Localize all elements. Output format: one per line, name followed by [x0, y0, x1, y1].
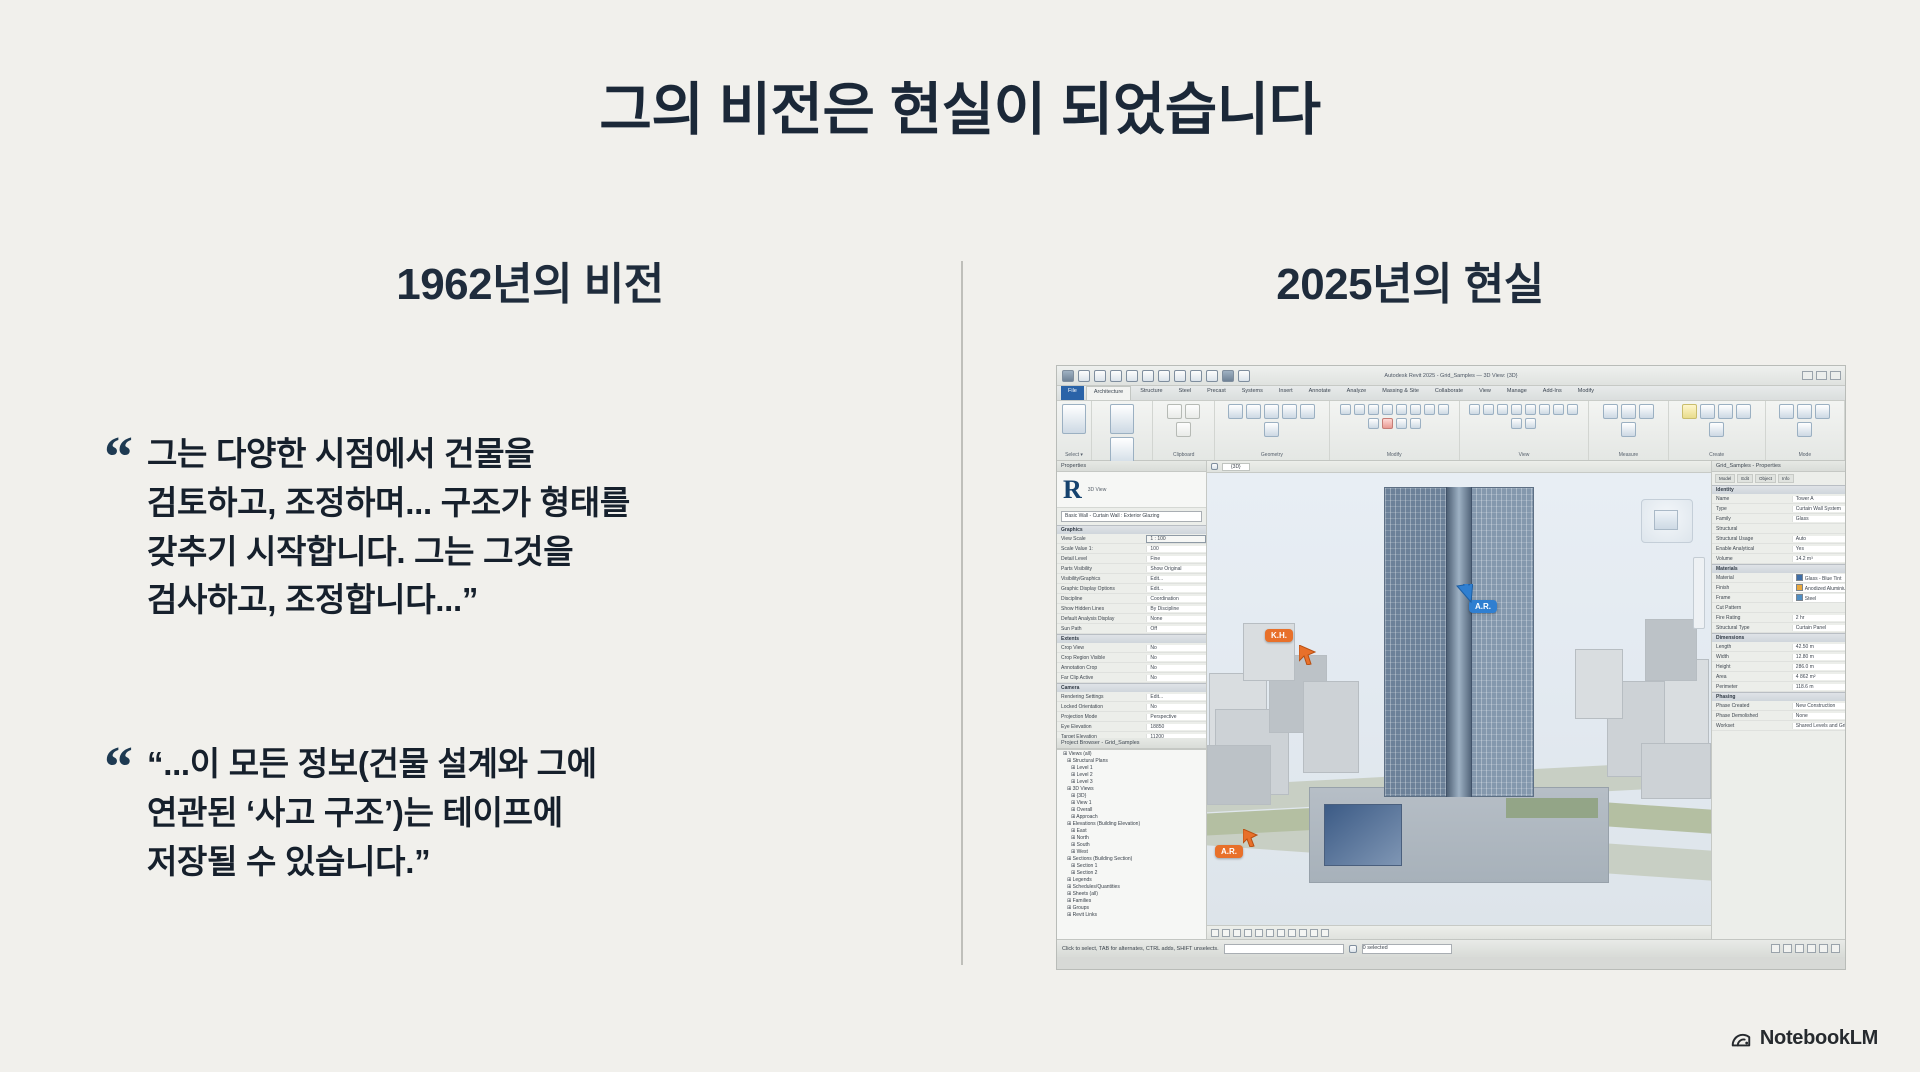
- ribbon-button-icon[interactable]: [1354, 404, 1365, 415]
- ribbon-button-icon[interactable]: [1110, 404, 1134, 434]
- property-value[interactable]: No: [1146, 704, 1206, 710]
- ribbon-tab[interactable]: Systems: [1235, 386, 1270, 400]
- property-value[interactable]: None: [1792, 713, 1845, 719]
- ribbon-group[interactable]: Clipboard: [1153, 401, 1214, 460]
- ribbon-group[interactable]: Select ▾: [1057, 401, 1092, 460]
- text-icon[interactable]: [1206, 370, 1218, 382]
- ribbon-button-icon[interactable]: [1062, 404, 1086, 434]
- visual-style-icon[interactable]: [1233, 929, 1241, 937]
- render-icon[interactable]: [1266, 929, 1274, 937]
- navigation-bar[interactable]: [1693, 557, 1705, 629]
- ribbon-button-icon[interactable]: [1709, 422, 1724, 437]
- property-row[interactable]: Graphic Display OptionsEdit...: [1057, 584, 1206, 594]
- tree-node[interactable]: ⊞ Groups: [1057, 904, 1206, 911]
- tree-node[interactable]: ⊞ Structural Plans: [1057, 757, 1206, 764]
- ribbon-group-label: Measure: [1619, 452, 1638, 460]
- property-row[interactable]: Default Analysis DisplayNone: [1057, 614, 1206, 624]
- tree-node[interactable]: ⊞ Level 2: [1057, 771, 1206, 778]
- ribbon-button-icon[interactable]: [1525, 418, 1536, 429]
- property-value[interactable]: Curtain Wall System: [1792, 506, 1845, 512]
- property-row[interactable]: Annotation CropNo: [1057, 663, 1206, 673]
- ribbon-button-icon[interactable]: [1539, 404, 1550, 415]
- collaborator-cursor-ar-blue: A.R.: [1469, 600, 1497, 613]
- tree-node[interactable]: ⊞ 3D Views: [1057, 785, 1206, 792]
- property-row[interactable]: Volume14.2 m³: [1712, 554, 1845, 564]
- tree-node[interactable]: ⊞ Revit Links: [1057, 911, 1206, 918]
- property-key: Visibility/Graphics: [1057, 576, 1146, 582]
- tree-node[interactable]: ⊞ Approach: [1057, 813, 1206, 820]
- property-key: Width: [1712, 654, 1792, 660]
- maximize-icon[interactable]: [1816, 371, 1827, 380]
- property-value[interactable]: New Construction: [1792, 703, 1845, 709]
- property-value[interactable]: Yes: [1792, 546, 1845, 552]
- property-key: Annotation Crop: [1057, 665, 1146, 671]
- property-row[interactable]: Phase DemolishedNone: [1712, 711, 1845, 721]
- collaborator-initials: A.R.: [1215, 845, 1243, 858]
- ribbon-tab[interactable]: Modify: [1571, 386, 1601, 400]
- property-key: Show Hidden Lines: [1057, 606, 1146, 612]
- ribbon-button-icon[interactable]: [1511, 418, 1522, 429]
- property-row[interactable]: Crop Region VisibleNo: [1057, 653, 1206, 663]
- page-title: 그의 비전은 현실이 되었습니다: [0, 78, 1920, 144]
- ribbon-button-icon[interactable]: [1603, 404, 1618, 419]
- detail-level-icon[interactable]: [1222, 929, 1230, 937]
- property-key: Family: [1712, 516, 1792, 522]
- ribbon-button-icon[interactable]: [1246, 404, 1261, 419]
- analytical-model-icon[interactable]: [1310, 929, 1318, 937]
- open-icon[interactable]: [1094, 370, 1106, 382]
- ribbon-button-icon[interactable]: [1396, 418, 1407, 429]
- city-block: [1207, 745, 1271, 805]
- ribbon-group[interactable]: Create: [1669, 401, 1766, 460]
- element-properties-tab[interactable]: Info: [1778, 474, 1794, 483]
- property-key: Area: [1712, 674, 1792, 680]
- measure-icon[interactable]: [1158, 370, 1170, 382]
- revit-logo-icon: R: [1063, 477, 1082, 503]
- property-row[interactable]: Fire Rating2 hr: [1712, 613, 1845, 623]
- property-value[interactable]: Curtain Panel: [1792, 625, 1845, 631]
- ribbon-group-label: View: [1519, 452, 1530, 460]
- view-cube-icon[interactable]: [1641, 499, 1693, 543]
- property-key: Eye Elevation: [1057, 724, 1146, 730]
- tree-node[interactable]: ⊞ Overall: [1057, 806, 1206, 813]
- property-row[interactable]: Parts VisibilityShow Original: [1057, 564, 1206, 574]
- notebooklm-wordmark: NotebookLM: [1760, 1027, 1878, 1050]
- project-browser-tree[interactable]: ⊞ Views (all)⊞ Structural Plans⊞ Level 1…: [1057, 749, 1206, 939]
- property-row[interactable]: FrameSteel: [1712, 593, 1845, 603]
- constraints-icon[interactable]: [1321, 929, 1329, 937]
- ribbon-button-icon[interactable]: [1382, 404, 1393, 415]
- status-toggles[interactable]: [1771, 944, 1840, 953]
- property-key: Finish: [1712, 585, 1792, 591]
- collaborator-initials: A.R.: [1469, 600, 1497, 613]
- property-row[interactable]: DisciplineCoordination: [1057, 594, 1206, 604]
- selection-count-field: 0 selected: [1362, 944, 1452, 954]
- property-value[interactable]: 286.0 m: [1792, 664, 1845, 670]
- ribbon-button-icon[interactable]: [1525, 404, 1536, 415]
- property-row[interactable]: Phase CreatedNew Construction: [1712, 701, 1845, 711]
- ribbon-button-icon[interactable]: [1282, 404, 1297, 419]
- ribbon-button-icon[interactable]: [1185, 404, 1200, 419]
- property-key: Parts Visibility: [1057, 566, 1146, 572]
- property-row[interactable]: TypeCurtain Wall System: [1712, 504, 1845, 514]
- ribbon-group-label: Create: [1709, 452, 1724, 460]
- ribbon-group[interactable]: Geometry: [1215, 401, 1330, 460]
- property-row[interactable]: Length42.50 m: [1712, 642, 1845, 652]
- tower-model: [1384, 487, 1534, 797]
- tree-node[interactable]: ⊞ {3D}: [1057, 792, 1206, 799]
- scale-icon[interactable]: [1211, 929, 1219, 937]
- property-section-header: Extents: [1057, 634, 1206, 643]
- select-links-icon[interactable]: [1819, 944, 1828, 953]
- ribbon-group[interactable]: Modify: [1330, 401, 1460, 460]
- property-row[interactable]: Width12.80 m: [1712, 652, 1845, 662]
- property-value[interactable]: By Discipline: [1146, 606, 1206, 612]
- collaborator-cursor-ar-orange: A.R.: [1215, 845, 1243, 858]
- ribbon-button-icon[interactable]: [1621, 422, 1636, 437]
- property-key: Fire Rating: [1712, 615, 1792, 621]
- ribbon-button-icon[interactable]: [1368, 404, 1379, 415]
- ribbon-group[interactable]: Measure: [1589, 401, 1668, 460]
- podium-green-roof: [1506, 798, 1598, 818]
- property-value[interactable]: Anodized Aluminium: [1792, 584, 1845, 592]
- align-icon[interactable]: [1174, 370, 1186, 382]
- property-row[interactable]: FinishAnodized Aluminium: [1712, 583, 1845, 593]
- property-value[interactable]: No: [1146, 645, 1206, 651]
- ribbon-button-icon[interactable]: [1410, 418, 1421, 429]
- property-key: Name: [1712, 496, 1792, 502]
- property-row[interactable]: Structural TypeCurtain Panel: [1712, 623, 1845, 633]
- shadows-icon[interactable]: [1255, 929, 1263, 937]
- property-value[interactable]: 14.2 m³: [1792, 556, 1845, 562]
- design-options-icon[interactable]: [1783, 944, 1792, 953]
- ribbon-button-icon[interactable]: [1300, 404, 1315, 419]
- property-value[interactable]: 4 862 m²: [1792, 674, 1845, 680]
- quote-text-1: 그는 다양한 시점에서 건물을 검토하고, 조정하며... 구조가 형태를 갖추…: [147, 430, 630, 625]
- ribbon-button-icon[interactable]: [1410, 404, 1421, 415]
- property-row[interactable]: Scale Value 1:100: [1057, 544, 1206, 554]
- tree-node[interactable]: ⊞ Level 3: [1057, 778, 1206, 785]
- revit-screenshot-image: Autodesk Revit 2025 - Grid_Samples — 3D …: [1056, 365, 1846, 970]
- ribbon-button-icon[interactable]: [1497, 404, 1508, 415]
- property-row[interactable]: Perimeter118.6 m: [1712, 682, 1845, 692]
- property-value[interactable]: Tower A: [1792, 496, 1845, 502]
- property-value[interactable]: 12.80 m: [1792, 654, 1845, 660]
- property-row[interactable]: Visibility/GraphicsEdit...: [1057, 574, 1206, 584]
- revit-app-icon: [1062, 370, 1074, 382]
- ribbon-button-icon[interactable]: [1368, 418, 1379, 429]
- ribbon-tab[interactable]: Add-Ins: [1536, 386, 1569, 400]
- tree-node[interactable]: ⊞ East: [1057, 827, 1206, 834]
- sun-path-icon[interactable]: [1244, 929, 1252, 937]
- property-row[interactable]: Projection ModePerspective: [1057, 712, 1206, 722]
- notebooklm-logo-icon: [1730, 1028, 1752, 1050]
- ribbon-button-icon[interactable]: [1438, 404, 1449, 415]
- property-key: Structural Usage: [1712, 536, 1792, 542]
- podium-building: [1309, 787, 1609, 883]
- redo-icon[interactable]: [1142, 370, 1154, 382]
- property-value[interactable]: 42.50 m: [1792, 644, 1845, 650]
- property-value[interactable]: Edit...: [1146, 576, 1206, 582]
- property-value[interactable]: Shared Levels and Grids: [1792, 723, 1845, 729]
- print-icon[interactable]: [1110, 370, 1122, 382]
- tree-node[interactable]: ⊞ Section 2: [1057, 869, 1206, 876]
- podium-glass-facade: [1324, 804, 1402, 866]
- undo-icon[interactable]: [1126, 370, 1138, 382]
- ribbon-tab[interactable]: Architecture: [1086, 386, 1131, 400]
- tree-node[interactable]: ⊞ West: [1057, 848, 1206, 855]
- property-row[interactable]: MaterialGlass - Blue Tint: [1712, 573, 1845, 583]
- tag-icon[interactable]: [1190, 370, 1202, 382]
- ribbon-group-label: Select ▾: [1065, 452, 1083, 460]
- ribbon-group[interactable]: View: [1460, 401, 1590, 460]
- property-value[interactable]: 18850: [1146, 724, 1206, 730]
- property-row[interactable]: Area4 862 m²: [1712, 672, 1845, 682]
- property-row[interactable]: Crop ViewNo: [1057, 643, 1206, 653]
- tree-node[interactable]: ⊞ Families: [1057, 897, 1206, 904]
- property-row[interactable]: Far Clip ActiveNo: [1057, 673, 1206, 683]
- property-key: Height: [1712, 664, 1792, 670]
- properties-table[interactable]: GraphicsView Scale1 : 100Scale Value 1:1…: [1057, 525, 1206, 738]
- ribbon-button-icon[interactable]: [1736, 404, 1751, 419]
- ribbon-button-icon[interactable]: [1264, 422, 1279, 437]
- revit-body: Properties R 3D View Basic Wall - Curtai…: [1057, 461, 1845, 939]
- tree-node[interactable]: ⊞ North: [1057, 834, 1206, 841]
- property-row[interactable]: Detail LevelFine: [1057, 554, 1206, 564]
- slide-root: 그의 비전은 현실이 되었습니다 1962년의 비전 2025년의 현실 “ 그…: [0, 0, 1920, 1072]
- ribbon-button-icon[interactable]: [1511, 404, 1522, 415]
- ribbon-button-icon[interactable]: [1167, 404, 1182, 419]
- ribbon-group-label: Mode: [1799, 452, 1812, 460]
- tree-node[interactable]: ⊞ Views (all): [1057, 750, 1206, 757]
- ribbon-tab[interactable]: Collaborate: [1428, 386, 1470, 400]
- quote-text-2: “...이 모든 정보(건물 설계와 그에 연관된 ‘사고 구조’)는 테이프에…: [147, 740, 597, 886]
- element-properties-panel[interactable]: Grid_Samples - Properties ModelEditObjec…: [1711, 461, 1845, 939]
- save-icon[interactable]: [1078, 370, 1090, 382]
- property-key: Default Analysis Display: [1057, 616, 1146, 622]
- property-value[interactable]: Perspective: [1146, 714, 1206, 720]
- color-swatch-icon: [1796, 594, 1803, 601]
- property-row[interactable]: WorksetShared Levels and Grids: [1712, 721, 1845, 731]
- ribbon-group[interactable]: Mode: [1766, 401, 1845, 460]
- ribbon-button-icon[interactable]: [1718, 404, 1733, 419]
- properties-preview: R 3D View: [1057, 472, 1206, 508]
- view-control-bar[interactable]: [1207, 925, 1711, 939]
- property-row[interactable]: View Scale1 : 100: [1057, 534, 1206, 544]
- tree-node[interactable]: ⊞ South: [1057, 841, 1206, 848]
- property-key: Length: [1712, 644, 1792, 650]
- ribbon-button-icon[interactable]: [1797, 422, 1812, 437]
- ribbon-button-icon[interactable]: [1700, 404, 1715, 419]
- property-key: Type: [1712, 506, 1792, 512]
- type-selector-dropdown[interactable]: Basic Wall - Curtain Wall : Exterior Gla…: [1061, 511, 1202, 522]
- element-properties-tab[interactable]: Object: [1755, 474, 1776, 483]
- property-value[interactable]: Auto: [1792, 536, 1845, 542]
- city-block: [1645, 619, 1697, 681]
- property-key: Phase Demolished: [1712, 713, 1792, 719]
- tree-node[interactable]: ⊞ Sections (Building Section): [1057, 855, 1206, 862]
- ribbon-button-icon[interactable]: [1424, 404, 1435, 415]
- property-row[interactable]: NameTower A: [1712, 494, 1845, 504]
- ribbon-button-icon[interactable]: [1815, 404, 1830, 419]
- element-properties-tab[interactable]: Model: [1715, 474, 1735, 483]
- property-value[interactable]: Fine: [1146, 556, 1206, 562]
- revit-status-bar: Click to select, TAB for alternates, CTR…: [1057, 939, 1845, 957]
- revit-title-bar: Autodesk Revit 2025 - Grid_Samples — 3D …: [1057, 366, 1845, 386]
- property-row[interactable]: Show Hidden LinesBy Discipline: [1057, 604, 1206, 614]
- tree-node[interactable]: ⊞ Elevations (Building Elevation): [1057, 820, 1206, 827]
- exclude-options-icon[interactable]: [1795, 944, 1804, 953]
- status-hint: Click to select, TAB for alternates, CTR…: [1062, 946, 1219, 952]
- tree-node[interactable]: ⊞ Level 1: [1057, 764, 1206, 771]
- cursor-arrow-icon: [1299, 645, 1317, 665]
- property-value[interactable]: Glass: [1792, 516, 1845, 522]
- property-row[interactable]: Structural UsageAuto: [1712, 534, 1845, 544]
- ribbon-tab[interactable]: View: [1472, 386, 1498, 400]
- select-pinned-icon[interactable]: [1831, 944, 1840, 953]
- worksets-icon[interactable]: [1771, 944, 1780, 953]
- view-icon: [1211, 463, 1218, 470]
- tree-node[interactable]: ⊞ Schedules/Quantities: [1057, 883, 1206, 890]
- property-row[interactable]: Enable AnalyticalYes: [1712, 544, 1845, 554]
- revit-ribbon-tabs[interactable]: FileArchitectureStructureSteelPrecastSys…: [1057, 386, 1845, 401]
- quote-mark-icon: “: [104, 744, 133, 789]
- property-value[interactable]: 118.6 m: [1792, 684, 1845, 690]
- ribbon-group[interactable]: Properties: [1092, 401, 1153, 460]
- properties-panel[interactable]: Properties R 3D View Basic Wall - Curtai…: [1057, 461, 1207, 939]
- quote-block-2: “ “...이 모든 정보(건물 설계와 그에 연관된 ‘사고 구조’)는 테이…: [104, 740, 924, 886]
- ribbon-button-icon[interactable]: [1553, 404, 1564, 415]
- property-row[interactable]: Sun PathOff: [1057, 624, 1206, 634]
- left-column-heading: 1962년의 비전: [150, 248, 910, 312]
- ribbon-button-icon[interactable]: [1382, 418, 1393, 429]
- ribbon-tab[interactable]: File: [1061, 386, 1084, 400]
- ribbon-button-icon[interactable]: [1264, 404, 1279, 419]
- property-key: View Scale: [1057, 536, 1146, 542]
- tree-node[interactable]: ⊞ Section 1: [1057, 862, 1206, 869]
- tower-center-notch: [1446, 487, 1472, 797]
- property-value[interactable]: Steel: [1792, 594, 1845, 602]
- property-value[interactable]: 2 hr: [1792, 615, 1845, 621]
- property-key: Crop View: [1057, 645, 1146, 651]
- property-row[interactable]: Structural: [1712, 524, 1845, 534]
- city-block: [1575, 649, 1623, 719]
- property-value[interactable]: No: [1146, 675, 1206, 681]
- ribbon-button-icon[interactable]: [1396, 404, 1407, 415]
- element-properties-tabs[interactable]: ModelEditObjectInfo: [1712, 472, 1845, 485]
- ribbon-tab[interactable]: Analyze: [1340, 386, 1374, 400]
- tree-node[interactable]: ⊞ View 1: [1057, 799, 1206, 806]
- property-value[interactable]: Edit...: [1146, 586, 1206, 592]
- hide-isolate-icon[interactable]: [1288, 929, 1296, 937]
- property-key: Frame: [1712, 595, 1792, 601]
- view-cube-face[interactable]: [1654, 510, 1678, 530]
- property-key: Discipline: [1057, 596, 1146, 602]
- element-properties-table[interactable]: IdentityNameTower ATypeCurtain Wall Syst…: [1712, 485, 1845, 939]
- property-key: Detail Level: [1057, 556, 1146, 562]
- property-value[interactable]: None: [1146, 616, 1206, 622]
- 3d-viewport[interactable]: {3D}: [1207, 461, 1711, 939]
- tree-node[interactable]: ⊞ Sheets (all): [1057, 890, 1206, 897]
- section-icon[interactable]: [1222, 370, 1234, 382]
- tree-node[interactable]: ⊞ Legends: [1057, 876, 1206, 883]
- ribbon-button-icon[interactable]: [1621, 404, 1636, 419]
- ribbon-tab[interactable]: Annotate: [1302, 386, 1338, 400]
- property-value[interactable]: 100: [1146, 546, 1206, 552]
- property-row[interactable]: FamilyGlass: [1712, 514, 1845, 524]
- filter-toggle-icon[interactable]: [1807, 944, 1816, 953]
- ribbon-button-icon[interactable]: [1228, 404, 1243, 419]
- viewport-tab-bar[interactable]: {3D}: [1207, 461, 1711, 473]
- property-section-header: Materials: [1712, 564, 1845, 573]
- ribbon-tab[interactable]: Insert: [1272, 386, 1300, 400]
- 3d-canvas[interactable]: K.H. A.R. A.R.: [1207, 473, 1711, 925]
- filter-icon[interactable]: [1349, 945, 1357, 953]
- ribbon-button-icon[interactable]: [1797, 404, 1812, 419]
- ribbon-button-icon[interactable]: [1483, 404, 1494, 415]
- property-key: Cut Pattern: [1712, 605, 1792, 611]
- property-row[interactable]: Cut Pattern: [1712, 603, 1845, 613]
- ribbon-tab[interactable]: Structure: [1133, 386, 1169, 400]
- property-value[interactable]: 1 : 100: [1146, 535, 1206, 543]
- property-key: Projection Mode: [1057, 714, 1146, 720]
- crop-view-icon[interactable]: [1277, 929, 1285, 937]
- ribbon-tab[interactable]: Massing & Site: [1375, 386, 1426, 400]
- ribbon-tab[interactable]: Steel: [1172, 386, 1199, 400]
- property-value[interactable]: No: [1146, 655, 1206, 661]
- ribbon-button-icon[interactable]: [1639, 404, 1654, 419]
- property-key: Crop Region Visible: [1057, 655, 1146, 661]
- ribbon-button-icon[interactable]: [1469, 404, 1480, 415]
- property-row[interactable]: Rendering SettingsEdit...: [1057, 692, 1206, 702]
- window-controls[interactable]: [1802, 371, 1841, 380]
- property-value[interactable]: No: [1146, 665, 1206, 671]
- minimize-icon[interactable]: [1802, 371, 1813, 380]
- property-row[interactable]: Locked OrientationNo: [1057, 702, 1206, 712]
- element-properties-tab[interactable]: Edit: [1737, 474, 1753, 483]
- ribbon-button-icon[interactable]: [1779, 404, 1794, 419]
- ribbon-button-icon[interactable]: [1682, 404, 1697, 419]
- column-divider: [961, 261, 963, 965]
- property-value[interactable]: Show Original: [1146, 566, 1206, 572]
- ribbon-tab[interactable]: Precast: [1200, 386, 1233, 400]
- viewport-tab-label[interactable]: {3D}: [1222, 463, 1250, 471]
- property-key: Workset: [1712, 723, 1792, 729]
- ribbon-button-icon[interactable]: [1176, 422, 1191, 437]
- close-icon[interactable]: [1830, 371, 1841, 380]
- ribbon-tab[interactable]: Manage: [1500, 386, 1534, 400]
- property-section-header: Camera: [1057, 683, 1206, 692]
- property-value[interactable]: Coordination: [1146, 596, 1206, 602]
- property-key: Structural: [1712, 526, 1792, 532]
- property-value[interactable]: Glass - Blue Tint: [1792, 574, 1845, 582]
- property-value[interactable]: Edit...: [1146, 694, 1206, 700]
- filter-field[interactable]: [1224, 944, 1344, 954]
- property-section-header: Dimensions: [1712, 633, 1845, 642]
- reveal-hidden-icon[interactable]: [1299, 929, 1307, 937]
- property-row[interactable]: Eye Elevation18850: [1057, 722, 1206, 732]
- ribbon-button-icon[interactable]: [1567, 404, 1578, 415]
- cursor-arrow-icon: [1455, 584, 1473, 604]
- property-row[interactable]: Height286.0 m: [1712, 662, 1845, 672]
- thin-lines-icon[interactable]: [1238, 370, 1250, 382]
- revit-ribbon[interactable]: Select ▾PropertiesClipboardGeometryModif…: [1057, 401, 1845, 461]
- property-value[interactable]: Off: [1146, 626, 1206, 632]
- ribbon-button-icon[interactable]: [1340, 404, 1351, 415]
- collaborator-initials: K.H.: [1265, 629, 1293, 642]
- property-key: Volume: [1712, 556, 1792, 562]
- ribbon-group-label: Clipboard: [1173, 452, 1194, 460]
